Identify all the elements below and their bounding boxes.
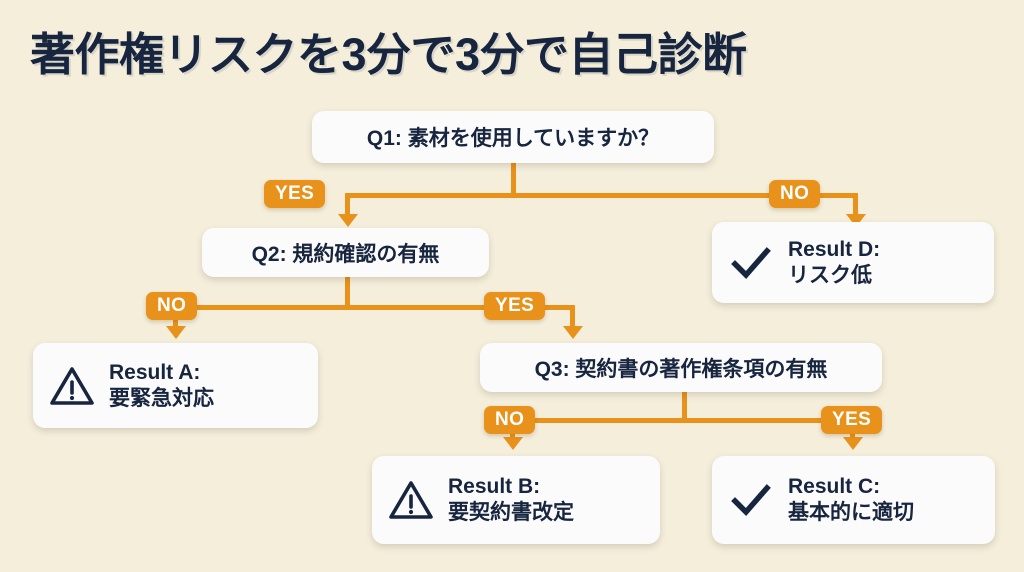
node-q2[interactable]: Q2: 規約確認の有無 [202, 228, 489, 277]
node-result-b[interactable]: Result B: 要契約書改定 [372, 456, 660, 544]
node-result-c-title: Result C: [788, 474, 914, 500]
node-result-c-text: Result C: 基本的に適切 [788, 474, 914, 525]
branch-label-q2-no[interactable]: NO [146, 292, 197, 320]
node-result-c[interactable]: Result C: 基本的に適切 [712, 456, 995, 544]
node-result-a[interactable]: Result A: 要緊急対応 [33, 343, 318, 428]
node-q1-label: Q1: 素材を使用していますか？ [367, 122, 659, 152]
node-result-a-title: Result A: [109, 360, 214, 386]
node-q1[interactable]: Q1: 素材を使用していますか？ [312, 111, 714, 163]
node-result-b-subtitle: 要契約書改定 [448, 500, 574, 526]
node-result-b-text: Result B: 要契約書改定 [448, 474, 574, 525]
check-icon [728, 240, 774, 286]
node-q3-label: Q3: 契約書の著作権条項の有無 [535, 353, 828, 383]
check-icon [728, 477, 774, 523]
arrow-q1-yes [338, 214, 358, 227]
arrow-q3-yes [843, 437, 863, 450]
branch-label-q1-yes[interactable]: YES [264, 180, 325, 208]
arrow-q2-no [166, 326, 186, 339]
branch-label-q2-yes[interactable]: YES [484, 292, 545, 320]
arrow-q3-no [503, 437, 523, 450]
branch-label-q1-no[interactable]: NO [769, 180, 820, 208]
node-q2-label: Q2: 規約確認の有無 [252, 238, 440, 268]
node-result-d-text: Result D: リスク低 [788, 237, 880, 288]
node-result-b-title: Result B: [448, 474, 574, 500]
node-result-d-title: Result D: [788, 237, 880, 263]
slide-canvas: 著作権リスクを3分で3分で自己診断 YES NO NO YES NO YES Q… [0, 0, 1024, 572]
arrow-q2-yes [563, 326, 583, 339]
node-result-a-text: Result A: 要緊急対応 [109, 360, 214, 411]
connector-q3-stem [682, 392, 687, 421]
node-q3[interactable]: Q3: 契約書の著作権条項の有無 [480, 343, 882, 392]
warning-triangle-icon [49, 363, 95, 409]
page-title: 著作権リスクを3分で3分で自己診断 [30, 18, 747, 83]
branch-label-q3-no[interactable]: NO [484, 406, 535, 434]
node-result-d[interactable]: Result D: リスク低 [712, 222, 994, 303]
warning-triangle-icon [388, 477, 434, 523]
connector-q3-bar [512, 418, 852, 423]
node-result-a-subtitle: 要緊急対応 [109, 386, 214, 412]
branch-label-q3-yes[interactable]: YES [821, 406, 882, 434]
node-result-d-subtitle: リスク低 [788, 263, 880, 289]
node-result-c-subtitle: 基本的に適切 [788, 500, 914, 526]
